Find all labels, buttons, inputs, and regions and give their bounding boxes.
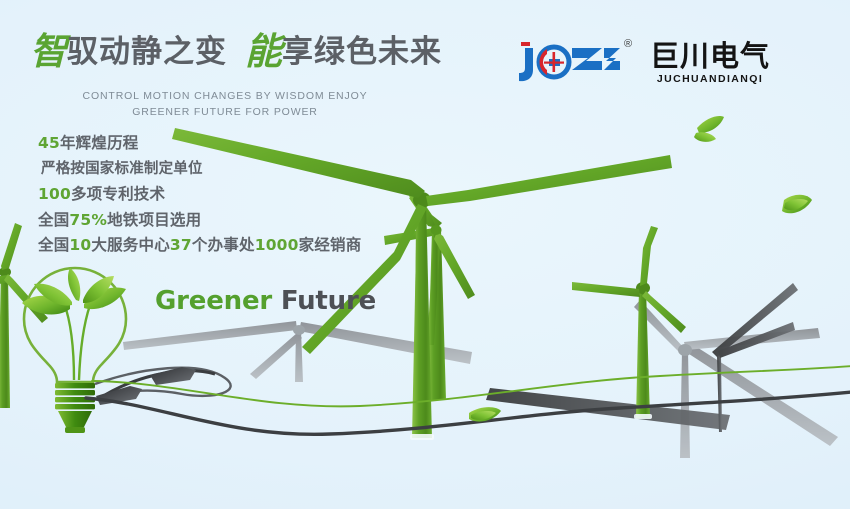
headline-plain-2: 享绿色未来 (282, 34, 442, 70)
company-logo: ® 巨川电气 JUCHUANDIANQI (516, 40, 770, 85)
shadow-turbine-center (486, 283, 798, 432)
feature-number: 1000 (255, 236, 299, 254)
headline-brush-1: 智 (30, 29, 67, 73)
headline-plain-1: 驭动静之变 (67, 34, 227, 70)
logo-chinese-name: 巨川电气 (650, 40, 770, 72)
feature-number: 75% (69, 211, 107, 229)
feature-text: 全国 (38, 236, 69, 254)
bulb-base (55, 383, 95, 433)
feature-item-0: 45年辉煌历程 (38, 131, 361, 157)
tagline-green-word: Greener (155, 286, 272, 316)
tagline-dark-word: Future (272, 286, 376, 316)
logo-pinyin: JUCHUANDIANQI (650, 73, 770, 85)
feature-text: 个办事处 (192, 236, 255, 254)
feature-text: 家经销商 (299, 236, 362, 254)
headline: 智驭动静之变能享绿色未来 (30, 33, 442, 70)
feature-text: 大服务中心 (91, 236, 170, 254)
registered-trademark-icon: ® (624, 38, 632, 50)
feature-number: 100 (38, 185, 71, 203)
lightbulb-icon (22, 268, 126, 433)
feature-text: 全国 (38, 211, 69, 229)
feature-item-4: 全国10大服务中心37个办事处1000家经销商 (38, 233, 361, 259)
wind-turbine-left (384, 192, 475, 400)
wind-turbine-right (572, 226, 686, 419)
feature-text: 年辉煌历程 (60, 134, 139, 152)
plug-cable (95, 367, 231, 405)
floating-leaf-top (694, 116, 724, 142)
feature-text: 地铁项目选用 (107, 211, 201, 229)
wave-line-green (92, 366, 850, 406)
feature-item-2: 100多项专利技术 (38, 182, 361, 208)
feature-item-1: 严格按国家标准制定单位 (38, 157, 361, 183)
floating-leaf-bottom (469, 407, 501, 421)
feature-number: 45 (38, 134, 60, 152)
floating-leaf-right (782, 195, 812, 214)
feature-text: 多项专利技术 (71, 185, 165, 203)
feature-item-3: 全国75%地铁项目选用 (38, 208, 361, 234)
wind-turbine-far-left (414, 218, 425, 436)
subtitle-line-2: GREENER FUTURE FOR POWER (30, 104, 420, 120)
shadow-turbine-left (123, 321, 472, 382)
tagline: Greener Future (155, 286, 376, 316)
logo-mark-icon: ® (516, 40, 624, 84)
subtitle: CONTROL MOTION CHANGES BY WISDOM ENJOY G… (30, 88, 420, 120)
feature-number: 10 (69, 236, 91, 254)
headline-brush-2: 能 (245, 29, 282, 73)
feature-number: 37 (170, 236, 192, 254)
feature-text: 严格按国家标准制定单位 (41, 161, 203, 177)
shadow-turbine-right (634, 300, 838, 458)
feature-list: 45年辉煌历程 严格按国家标准制定单位 100多项专利技术 全国75%地铁项目选… (38, 131, 361, 259)
promotional-banner: 智驭动静之变能享绿色未来 CONTROL MOTION CHANGES BY W… (0, 0, 850, 509)
wave-line-dark (86, 392, 850, 434)
subtitle-line-1: CONTROL MOTION CHANGES BY WISDOM ENJOY (30, 88, 420, 104)
